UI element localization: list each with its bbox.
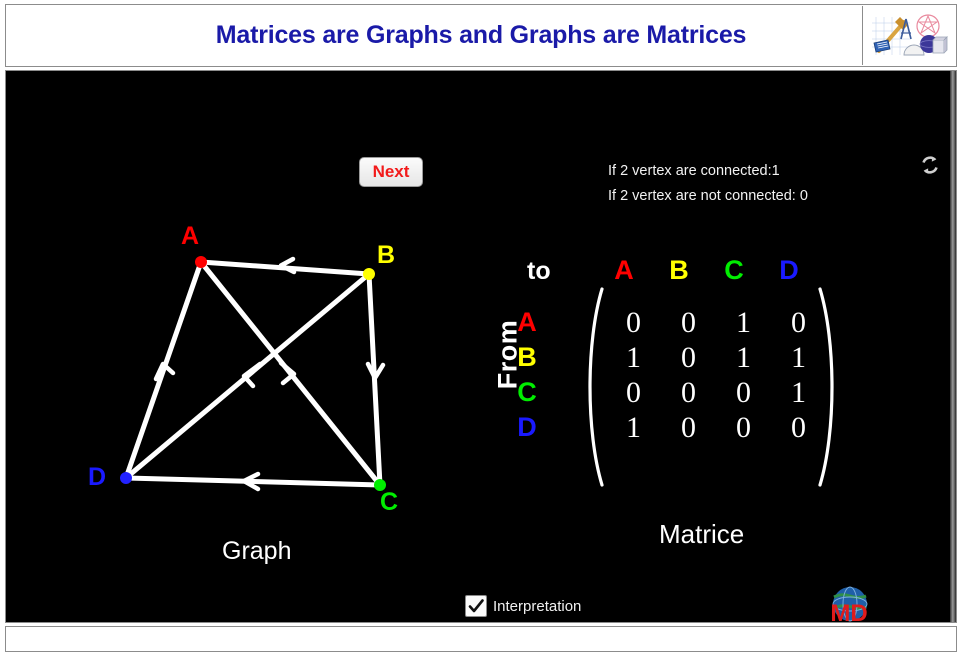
table-row: 0 0 1 0 [606,305,826,340]
graph-panel: A B C D Graph [6,71,476,623]
vertex-label-D: D [88,465,106,490]
matrix-row-header-A: A [514,307,540,338]
vertex-label-C: C [380,490,398,515]
table-row: 0 0 0 1 [606,375,826,410]
stage-scrollbar[interactable] [950,71,956,622]
matrix-cell-B-B: 0 [661,340,716,375]
table-row: 1 0 0 0 [606,410,826,445]
matrix-col-header-A: A [609,255,639,286]
header-bar: Matrices are Graphs and Graphs are Matri… [5,4,957,67]
footer-strip [5,626,957,652]
matrix-cell-C-B: 0 [661,375,716,410]
adjacency-matrix: 0 0 1 0 1 0 1 1 0 0 0 1 [606,305,826,445]
md-globe-logo-icon: MD [828,583,872,623]
check-icon [467,597,485,615]
matrix-cell-C-A: 0 [606,375,661,410]
matrix-cell-D-A: 1 [606,410,661,445]
application-window: Matrices are Graphs and Graphs are Matri… [0,0,961,656]
applet-canvas: Next If 2 vertex are connected:1 If 2 ve… [6,71,956,622]
directed-graph-drawing[interactable] [6,71,476,541]
vertex-D [120,472,132,484]
matrix-to-label: to [527,257,551,286]
graph-caption: Graph [222,537,291,566]
applet-stage: Next If 2 vertex are connected:1 If 2 ve… [5,70,957,623]
matrix-col-header-B: B [664,255,694,286]
vertex-B [363,268,375,280]
math-tools-logo-icon [870,11,948,61]
matrix-cell-C-D: 1 [771,375,826,410]
matrix-cell-D-C: 0 [716,410,771,445]
matrix-left-bracket [580,287,606,487]
svg-text:MD: MD [830,600,867,623]
matrix-cell-A-B: 0 [661,305,716,340]
matrix-row-header-C: C [514,377,540,408]
matrix-col-header-C: C [719,255,749,286]
matrix-cell-C-C: 0 [716,375,771,410]
table-row: 1 0 1 1 [606,340,826,375]
matrix-cell-B-A: 1 [606,340,661,375]
matrix-caption: Matrice [659,519,744,550]
vertex-A [195,256,207,268]
interpretation-checkbox[interactable] [465,595,487,617]
matrix-cell-D-B: 0 [661,410,716,445]
interpretation-checkbox-row[interactable]: Interpretation [465,595,581,617]
matrix-row-header-B: B [514,342,540,373]
matrix-cell-B-D: 1 [771,340,826,375]
vertex-label-B: B [377,243,395,268]
vertex-label-A: A [181,224,199,249]
matrix-cell-B-C: 1 [716,340,771,375]
matrix-col-header-D: D [774,255,804,286]
matrix-row-header-D: D [514,412,540,443]
matrix-cell-A-C: 1 [716,305,771,340]
matrix-cell-D-D: 0 [771,410,826,445]
md-globe-logo: MD [828,583,872,623]
interpretation-label: Interpretation [493,598,581,615]
matrix-cell-A-D: 0 [771,305,826,340]
page-title: Matrices are Graphs and Graphs are Matri… [216,21,747,50]
matrix-cell-A-A: 0 [606,305,661,340]
math-tools-logo [862,6,955,65]
matrix-panel: to From A B C D A B C D [476,71,957,623]
